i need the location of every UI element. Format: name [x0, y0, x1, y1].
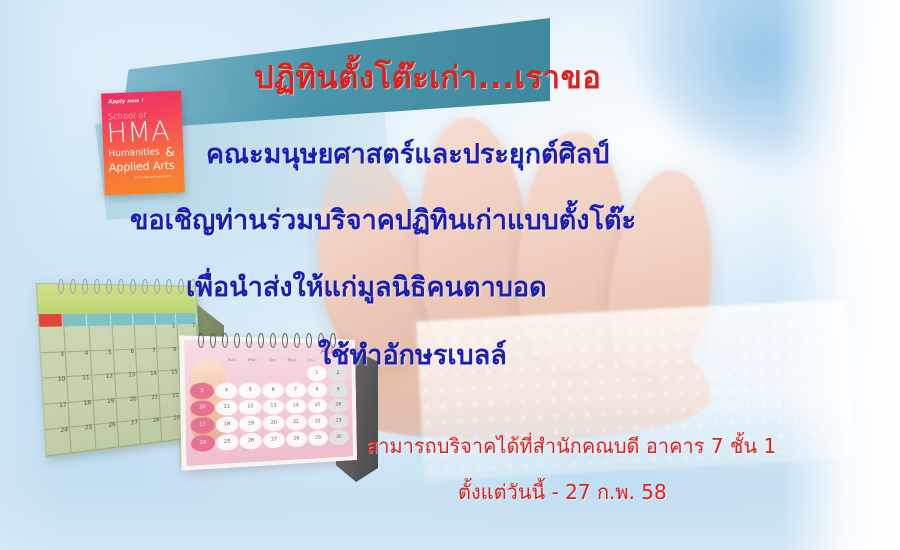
brochure-humanities: Humanities — [108, 147, 160, 159]
calendar-pink-rings — [196, 333, 338, 347]
calendar-pink-day-cell: 16 — [328, 398, 348, 413]
calendar-pink-day-cell: 17 — [190, 417, 214, 434]
calendar-pink-day-cell: 11 — [215, 400, 238, 417]
calendar-pink-day-cell: 4 — [215, 382, 238, 398]
calendar-pink-day-cell: 13 — [263, 399, 285, 415]
calendar-green-weekday-cell — [39, 314, 63, 327]
calendar-green-day-cell: 13 — [115, 373, 139, 399]
calendar-pink-weekday-label: Thu — [308, 358, 315, 362]
calendar-green-weekday-cell — [87, 314, 111, 326]
calendar-pink-weekday-label: Mon — [248, 358, 257, 362]
calendar-pink-day-cell: 21 — [285, 415, 306, 431]
calendar-pink-day-grid: 1234567891011121314151617181920212223242… — [189, 365, 348, 452]
brochure-fine-print: Humanities and Applied Arts — [124, 175, 182, 181]
calendar-green-day-cell: 10 — [42, 377, 69, 404]
calendar-green-day-cell: 3 — [41, 352, 68, 379]
calendar-green-day-cell: 12 — [92, 374, 117, 400]
calendar-pink-day-cell: 5 — [239, 382, 262, 398]
calendar-green-day-cell: 28 — [140, 419, 163, 445]
background-right-fade — [780, 0, 900, 550]
calendar-pink-day-cell: 10 — [190, 400, 214, 417]
calendar-pink-day-cell: 20 — [263, 415, 285, 431]
calendar-pink-day-cell — [214, 365, 237, 381]
calendar-green-day-cell: 24 — [45, 428, 72, 456]
calendar-green-day-cell: 25 — [71, 425, 96, 453]
calendar-pink-day-cell: 8 — [307, 382, 328, 397]
calendar-green-weekday-cell — [133, 313, 155, 325]
calendar-pink-day-cell: 27 — [263, 432, 285, 449]
calendar-green-day-cell — [112, 325, 136, 350]
calendar-green-day-cell — [89, 326, 114, 351]
brochure-applied-arts: Applied Arts — [109, 159, 175, 175]
calendar-green-day-cell — [65, 326, 91, 352]
calendar-green-day-cell: 11 — [68, 376, 94, 403]
calendar-green-day-cell: 4 — [66, 351, 92, 377]
calendar-green-day-cell: 8 — [158, 347, 180, 371]
calendar-pink-day-cell: 3 — [190, 382, 214, 399]
calendar-green-day-cell — [39, 326, 66, 352]
calendar-green-day-cell: 5 — [91, 350, 116, 376]
poster-line-1: คณะมนุษยศาสตร์และประยุกต์ศิลป์ — [206, 132, 609, 175]
calendar-pink-day-cell: 28 — [286, 431, 307, 447]
calendar-pink-day-cell: 14 — [285, 398, 306, 414]
calendar-pink-weekday-label: Tue — [269, 358, 276, 362]
calendar-green-day-cell: 14 — [137, 372, 160, 397]
calendar-green-day-cell — [135, 325, 158, 349]
calendar-pink-day-cell: 9 — [328, 382, 348, 397]
poster-footer-line-1: สามารถบริจาคได้ที่สำนักคณบดี อาคาร 7 ชั้… — [366, 430, 776, 462]
calendar-green-day-cell: 26 — [95, 423, 119, 450]
poster-canvas: Apply now ! School of HMA Humanities & A… — [0, 0, 900, 550]
poster-headline: ปฏิทินตั้งโต๊ะเก่า...เราขอ — [254, 52, 601, 102]
calendar-green-rings — [56, 279, 198, 293]
calendar-pink-day-cell: 24 — [191, 435, 215, 452]
poster-line-2: ขอเชิญท่านร่วมบริจาคปฏิทินเก่าแบบตั้งโต๊… — [130, 198, 636, 241]
calendar-pink-day-cell: 19 — [239, 416, 262, 433]
calendar-pink-day-cell: 22 — [307, 414, 328, 430]
calendar-pink-weekday-label: Wed — [288, 358, 296, 362]
calendar-pink-day-cell: 7 — [285, 382, 306, 398]
calendar-pink-day-cell: 26 — [240, 433, 263, 450]
calendar-pink-day-cell: 18 — [215, 417, 238, 434]
hma-brochure-card: Apply now ! School of HMA Humanities & A… — [101, 91, 185, 196]
calendar-green-day-cell: 27 — [118, 421, 141, 448]
calendar-pink-day-cell: 6 — [262, 382, 284, 398]
poster-line-4: ใช้ทำอักษรเบลล์ — [318, 333, 507, 376]
calendar-pink-day-cell — [239, 365, 262, 381]
calendar-pink-day-cell — [285, 366, 306, 382]
calendar-pink-day-cell: 29 — [308, 430, 329, 446]
brochure-ampersand: & — [165, 145, 175, 159]
calendar-pink-day-cell: 25 — [216, 434, 239, 451]
calendar-green-face: 1234567891011121314151617181920212223242… — [36, 283, 204, 458]
calendar-green-day-cell: 7 — [136, 348, 159, 373]
calendar-green-day-cell: 15 — [159, 370, 181, 395]
poster-line-3: เพื่อนำส่งให้แก่มูลนิธิคนตาบอด — [186, 265, 547, 308]
calendar-green-day-cell: 1 — [156, 324, 178, 348]
calendar-pink-day-cell: 15 — [307, 398, 328, 414]
poster-footer-line-2: ตั้งแต่วันนี้ - 27 ก.พ. 58 — [458, 476, 667, 508]
calendar-green-weekday-cell — [111, 313, 134, 325]
calendar-pink-day-cell — [262, 365, 284, 381]
calendar-pink-day-cell — [189, 365, 213, 382]
calendar-pink-weekday-label: Sun — [227, 357, 235, 361]
calendar-pink-day-cell: 30 — [329, 429, 349, 445]
calendar-pink-day-cell: 12 — [239, 399, 262, 415]
calendar-green-weekday-cell — [62, 314, 87, 327]
calendar-green-day-cell: 6 — [114, 349, 138, 374]
brochure-apply-now: Apply now ! — [108, 98, 144, 105]
calendar-pink-day-cell: 23 — [329, 414, 349, 430]
brochure-acronym: HMA — [106, 118, 171, 147]
